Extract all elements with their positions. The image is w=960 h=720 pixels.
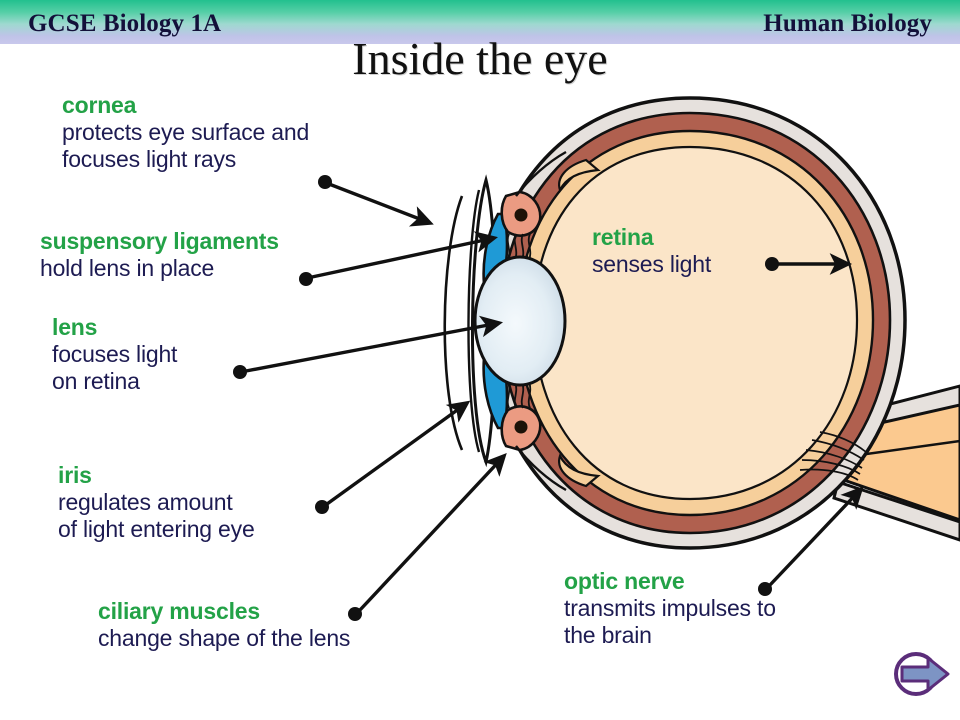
label-optic-nerve: optic nerve transmits impulses to the br… bbox=[564, 568, 776, 649]
next-slide-button[interactable] bbox=[888, 648, 954, 704]
label-desc-iris-1: regulates amount bbox=[58, 489, 255, 516]
course-topic: Human Biology bbox=[763, 10, 932, 38]
label-desc-iris-2: of light entering eye bbox=[58, 516, 255, 543]
label-desc-cornea-2: focuses light rays bbox=[62, 146, 309, 173]
page-title: Inside the eye bbox=[0, 36, 960, 82]
label-ciliary-muscles: ciliary muscles change shape of the lens bbox=[98, 598, 350, 652]
label-term-cornea: cornea bbox=[62, 92, 309, 119]
label-desc-lens-1: focuses light bbox=[52, 341, 177, 368]
label-lens: lens focuses light on retina bbox=[52, 314, 177, 395]
label-term-retina: retina bbox=[592, 224, 711, 251]
lens-structure bbox=[475, 257, 565, 385]
label-cornea: cornea protects eye surface and focuses … bbox=[62, 92, 309, 173]
label-desc-ciliary-muscles-1: change shape of the lens bbox=[98, 625, 350, 652]
anterior-chamber-line bbox=[445, 196, 462, 450]
label-term-lens: lens bbox=[52, 314, 177, 341]
label-iris: iris regulates amount of light entering … bbox=[58, 462, 255, 543]
next-arrow-icon[interactable] bbox=[888, 648, 954, 704]
label-desc-optic-nerve-1: transmits impulses to bbox=[564, 595, 776, 622]
course-code: GCSE Biology 1A bbox=[28, 10, 221, 38]
label-desc-lens-2: on retina bbox=[52, 368, 177, 395]
label-term-iris: iris bbox=[58, 462, 255, 489]
label-suspensory-ligaments: suspensory ligaments hold lens in place bbox=[40, 228, 279, 282]
label-term-suspensory-ligaments: suspensory ligaments bbox=[40, 228, 279, 255]
label-desc-cornea-1: protects eye surface and bbox=[62, 119, 309, 146]
label-desc-retina-1: senses light bbox=[592, 251, 711, 278]
label-desc-suspensory-ligaments-1: hold lens in place bbox=[40, 255, 279, 282]
label-term-ciliary-muscles: ciliary muscles bbox=[98, 598, 350, 625]
label-term-optic-nerve: optic nerve bbox=[564, 568, 776, 595]
slide-canvas: GCSE Biology 1A Human Biology Inside the… bbox=[0, 0, 960, 720]
label-desc-optic-nerve-2: the brain bbox=[564, 622, 776, 649]
label-retina: retina senses light bbox=[592, 224, 711, 278]
vitreous-humour bbox=[534, 147, 857, 499]
